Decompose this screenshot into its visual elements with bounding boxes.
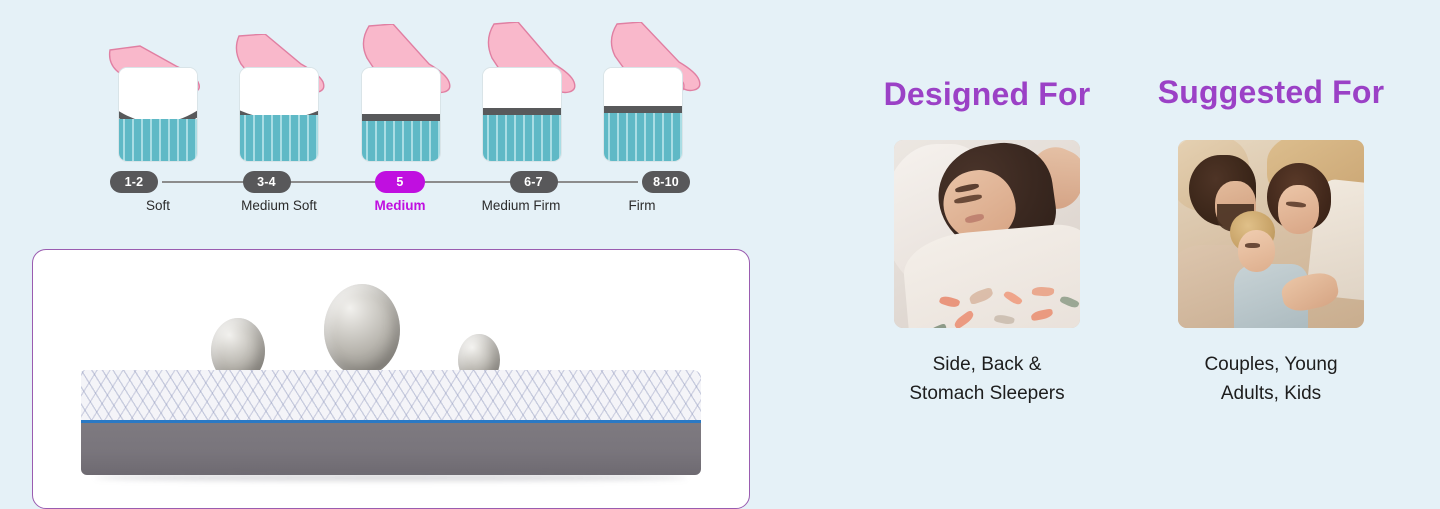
scale-badge-medium-firm[interactable]: 6-7	[510, 171, 558, 193]
left-column: 1-2 3-4 5 6-7 8-10 Soft Medium Soft Medi…	[0, 0, 760, 494]
mattress-body	[118, 67, 198, 162]
scale-label-firm: Firm	[594, 198, 690, 213]
caption-line-1: Couples, Young	[1126, 350, 1416, 379]
firmness-illustration-firm	[595, 22, 690, 162]
floral-motif	[1032, 286, 1055, 297]
foam-dip-curve	[239, 68, 319, 108]
firmness-scale-labels: Soft Medium Soft Medium Medium Firm Firm	[110, 198, 690, 213]
foam-base-layer	[81, 423, 701, 475]
designed-for-heading: Designed For	[842, 78, 1132, 110]
floral-motif	[1059, 294, 1079, 309]
caption-line-2: Adults, Kids	[1126, 379, 1416, 408]
mattress-cross-section-card	[32, 249, 750, 509]
mattress-cross-section-image	[71, 278, 711, 473]
mother-face	[1278, 185, 1319, 234]
mattress-slab	[81, 370, 701, 475]
right-column: Designed For Side, Back &	[830, 0, 1440, 494]
floral-motif	[927, 323, 947, 328]
suggested-for-caption: Couples, Young Adults, Kids	[1126, 350, 1416, 409]
scale-badge-medium[interactable]: 5	[375, 171, 425, 193]
metal-ball-center	[324, 284, 400, 376]
coil-layer	[240, 115, 318, 161]
firmness-illustration-medium-soft	[231, 22, 326, 162]
coil-layer	[119, 119, 197, 161]
scale-label-medium: Medium	[352, 198, 448, 213]
designed-for-caption: Side, Back & Stomach Sleepers	[842, 350, 1132, 409]
coil-layer	[604, 113, 682, 161]
scale-label-medium-firm: Medium Firm	[473, 198, 569, 213]
scale-label-medium-soft: Medium Soft	[231, 198, 327, 213]
quilt-texture	[81, 370, 701, 422]
firmness-scale-graphic: 1-2 3-4 5 6-7 8-10 Soft Medium Soft Medi…	[0, 0, 760, 238]
caption-line-1: Side, Back &	[842, 350, 1132, 379]
coil-layer	[362, 121, 440, 161]
foam-layer	[604, 68, 682, 108]
mattress-body	[361, 67, 441, 162]
scale-badge-medium-soft[interactable]: 3-4	[243, 171, 291, 193]
suggested-for-photo	[1178, 140, 1364, 328]
child-face	[1238, 230, 1275, 271]
caption-line-2: Stomach Sleepers	[842, 379, 1132, 408]
floral-motif	[1030, 309, 1054, 323]
mattress-cover-layer	[81, 370, 701, 422]
mattress-body	[603, 67, 683, 162]
foam-layer	[362, 68, 440, 116]
designed-for-photo	[894, 140, 1080, 328]
floral-motif	[993, 314, 1015, 327]
firmness-illustration-soft	[110, 22, 205, 162]
firmness-illustration-medium-firm	[474, 22, 569, 162]
foam-layer	[483, 68, 561, 110]
mattress-firmness-illustrations	[110, 22, 690, 162]
firmness-scale-track: 1-2 3-4 5 6-7 8-10	[110, 170, 690, 194]
suggested-for-heading: Suggested For	[1126, 76, 1416, 108]
scale-badge-soft[interactable]: 1-2	[110, 171, 158, 193]
coil-layer	[483, 115, 561, 161]
floral-motif	[952, 310, 976, 328]
scale-badges: 1-2 3-4 5 6-7 8-10	[110, 170, 690, 194]
mattress-shadow	[95, 474, 687, 481]
scale-label-soft: Soft	[110, 198, 206, 213]
suggested-for-column: Suggested For Couples, Young Adults, Kid…	[1126, 0, 1416, 409]
floral-motif	[939, 295, 961, 310]
mattress-body	[482, 67, 562, 162]
floral-motif	[1003, 290, 1023, 308]
scale-badge-firm[interactable]: 8-10	[642, 171, 690, 193]
floral-motif	[968, 287, 994, 305]
designed-for-column: Designed For Side, Back &	[842, 0, 1132, 409]
firmness-illustration-medium	[353, 22, 448, 162]
child-closed-eye	[1245, 243, 1260, 248]
mattress-body	[239, 67, 319, 162]
